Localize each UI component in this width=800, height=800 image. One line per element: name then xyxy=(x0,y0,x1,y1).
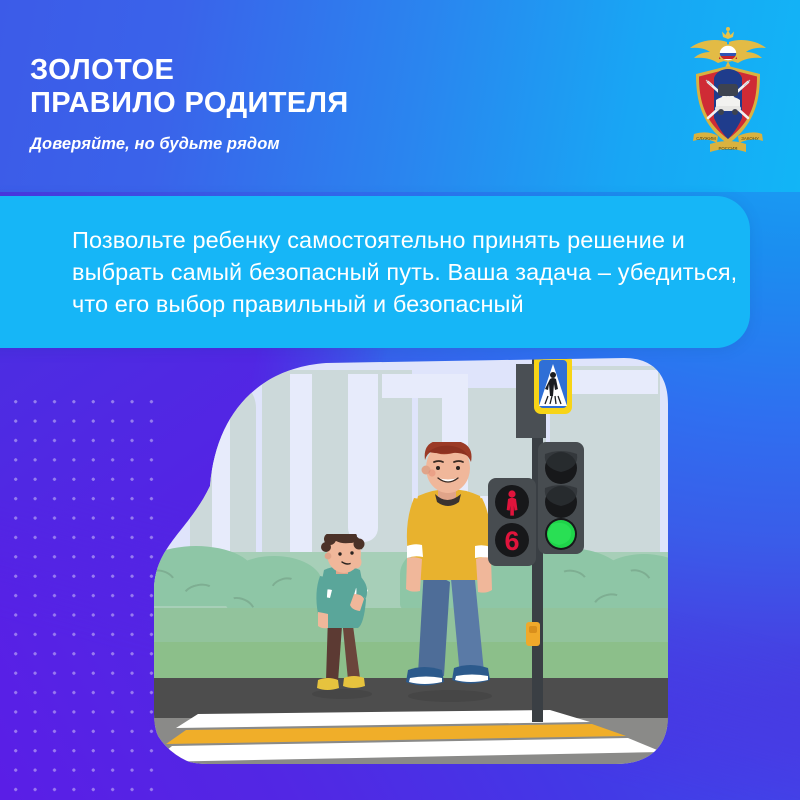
svg-text:ЗАКОНУ: ЗАКОНУ xyxy=(741,136,759,141)
gibdd-emblem-icon: СЛУЖИМ ЗАКОНУ РОССИЯ xyxy=(680,26,776,166)
child-boy xyxy=(298,534,386,700)
dot-pattern-decoration xyxy=(6,392,156,797)
pedestrian-call-button xyxy=(526,622,540,646)
page-subtitle: Доверяйте, но будьте рядом xyxy=(30,135,349,154)
svg-text:РОССИЯ: РОССИЯ xyxy=(719,146,738,151)
traffic-light: 6 xyxy=(482,356,602,732)
message-text: Позвольте ребенку самостоятельно принять… xyxy=(72,224,764,320)
building-highlight xyxy=(348,374,378,542)
svg-text:СЛУЖИМ: СЛУЖИМ xyxy=(696,136,716,141)
page-title-line2: ПРАВИЛО РОДИТЕЛЯ xyxy=(30,87,349,120)
header-banner: ЗОЛОТОЕ ПРАВИЛО РОДИТЕЛЯ Доверяйте, но б… xyxy=(0,0,800,192)
pedestrian-countdown: 6 xyxy=(504,526,519,556)
page-title-line1: ЗОЛОТОЕ xyxy=(30,54,349,87)
poster-root: ЗОЛОТОЕ ПРАВИЛО РОДИТЕЛЯ Доверяйте, но б… xyxy=(0,0,800,800)
header-title-group: ЗОЛОТОЕ ПРАВИЛО РОДИТЕЛЯ Доверяйте, но б… xyxy=(30,54,349,154)
